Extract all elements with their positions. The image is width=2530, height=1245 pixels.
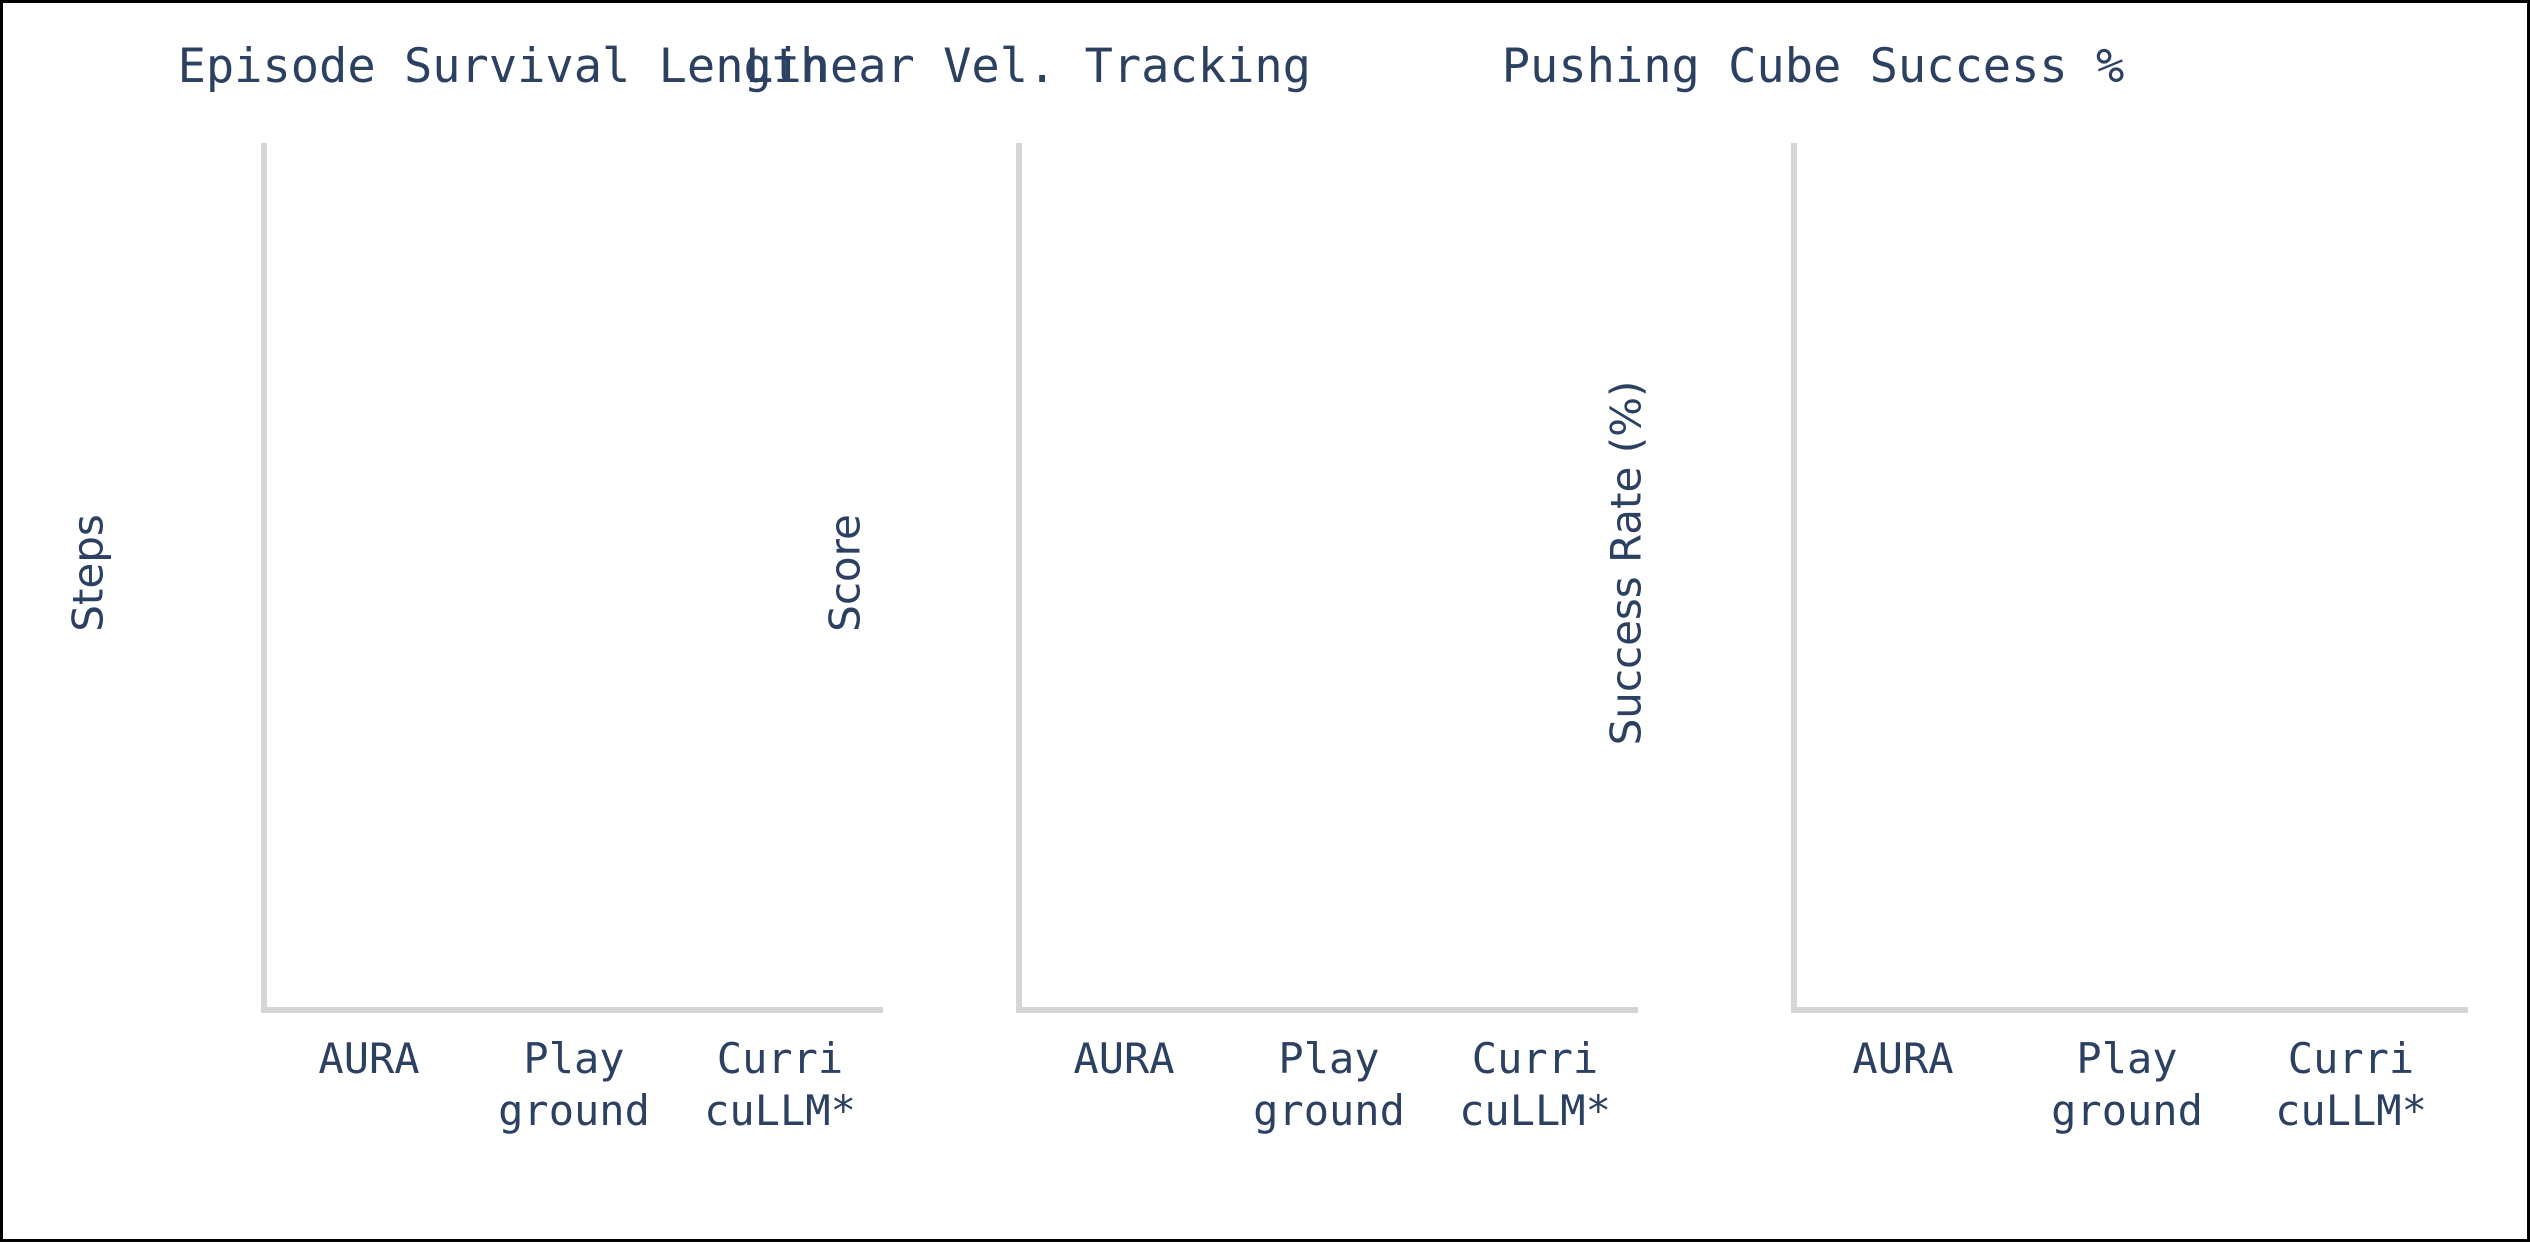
x-tick-label-curricullm: Curri cuLLM*: [1459, 1033, 1611, 1137]
plot-area: [1016, 143, 1638, 1013]
plot-area: [261, 143, 883, 1013]
y-axis-label: Success Rate (%): [1602, 381, 1651, 746]
x-tick-label-curricullm: Curri cuLLM*: [704, 1033, 856, 1137]
x-tick-label-aura: AURA: [318, 1033, 419, 1085]
x-tick-label-playground: Play ground: [498, 1033, 650, 1137]
x-tick-label-aura: AURA: [1073, 1033, 1174, 1085]
plot-area: [1791, 143, 2468, 1013]
x-tick-label-playground: Play ground: [1253, 1033, 1405, 1137]
x-tick-label-aura: AURA: [1852, 1033, 1953, 1085]
y-axis-label: Steps: [64, 514, 113, 632]
panel-title: Pushing Cube Success %: [1373, 39, 2253, 94]
x-tick-label-playground: Play ground: [2051, 1033, 2203, 1137]
panel-title: Linear Vel. Tracking: [648, 39, 1408, 94]
y-axis-label: Score: [821, 514, 870, 632]
figure-canvas: Episode Survival Length Steps 3000 2500 …: [0, 0, 2530, 1242]
x-tick-label-curricullm: Curri cuLLM*: [2275, 1033, 2427, 1137]
